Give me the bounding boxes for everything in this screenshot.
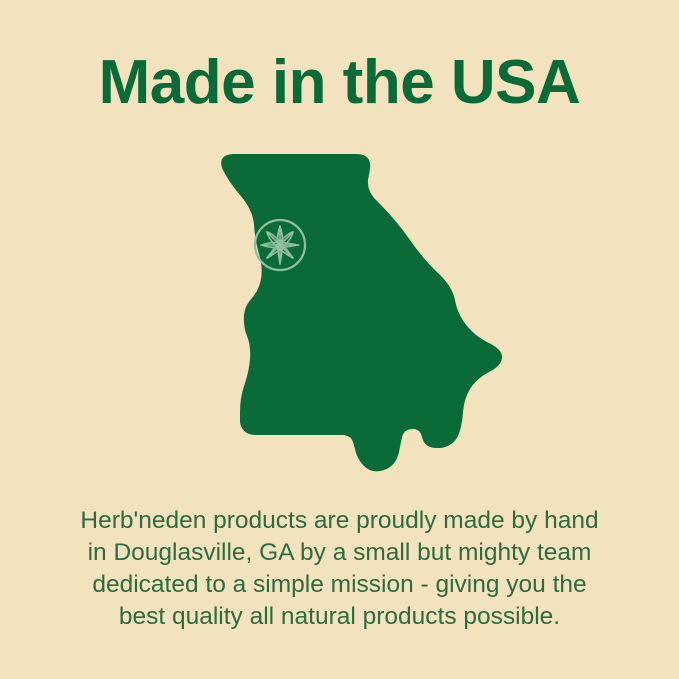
body-line-3: dedicated to a simple mission - giving y… — [58, 569, 621, 601]
body-copy: Herb'neden products are proudly made by … — [58, 505, 621, 633]
poster-canvas: Made in the USA — [0, 0, 679, 679]
page-title-front: Made in the USA — [0, 48, 679, 118]
body-line-2: in Douglasville, GA by a small but might… — [58, 537, 621, 569]
body-line-1: Herb'neden products are proudly made by … — [58, 505, 621, 537]
state-emblem — [255, 220, 305, 270]
body-line-4: best quality all natural products possib… — [58, 601, 621, 633]
star-burst-icon — [261, 226, 299, 264]
